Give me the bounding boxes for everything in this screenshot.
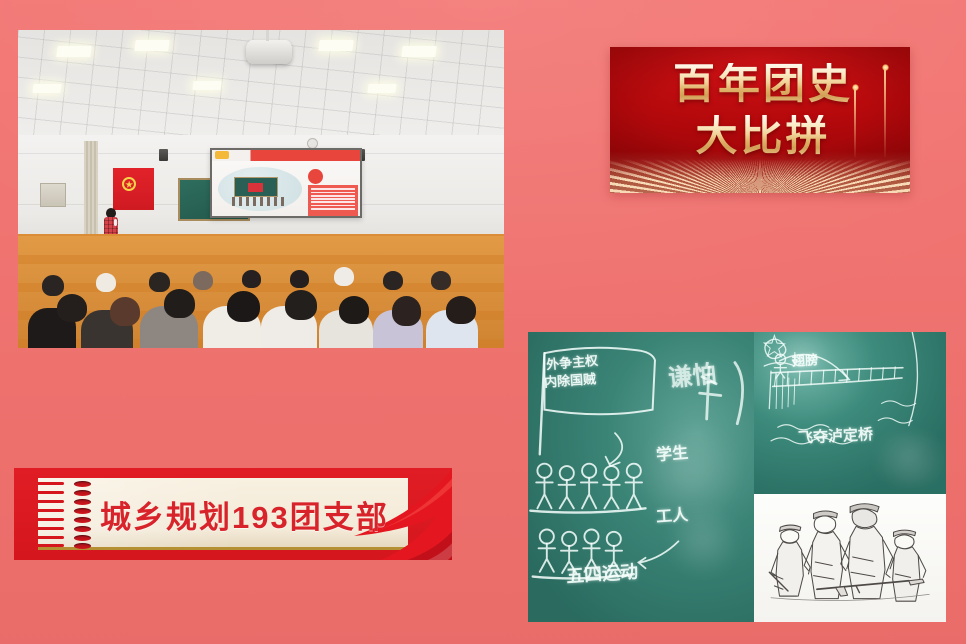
- window-curtain: [84, 141, 98, 236]
- audience-member: [392, 296, 421, 326]
- lecture-hall-scene: [18, 30, 504, 348]
- title-line-1: 百年团史: [610, 63, 910, 105]
- lecture-hall-photo: [18, 30, 504, 348]
- collage-panel-luding-bridge: 翅膀 飞夺泸定桥: [754, 332, 946, 494]
- ceiling-light: [367, 84, 396, 93]
- audience-member: [149, 272, 170, 292]
- audience-member: [446, 296, 476, 324]
- audience-member: [285, 290, 317, 320]
- chalk-label-workers: 工人: [655, 501, 689, 527]
- collage-panel-may-fourth: 外争主权 内除国贼 谦怕 学生 工人 五四运动: [528, 332, 754, 622]
- youth-league-flag: [113, 168, 154, 210]
- audience-member: [57, 294, 87, 322]
- chalk-drawing-bridge: [754, 332, 946, 470]
- audience-member: [339, 296, 369, 324]
- audience-member: [431, 271, 451, 290]
- slide-canvas: 百年团史 大比拼 城乡规划1: [0, 0, 966, 644]
- audience-member: [227, 291, 260, 322]
- title-card: 百年团史 大比拼: [610, 47, 910, 193]
- slide-text-block: [308, 185, 358, 216]
- audience-member: [96, 273, 116, 292]
- collage-panel-soldier-sketch: [754, 494, 946, 622]
- audience-member: [193, 271, 213, 290]
- title-line-2: 大比拼: [610, 115, 910, 157]
- chalk-label-students: 学生: [655, 439, 689, 466]
- ceiling-light: [401, 46, 437, 57]
- audience-member: [334, 267, 354, 286]
- ceiling-light: [192, 81, 221, 90]
- ceiling-projector-icon: [246, 40, 292, 64]
- chalk-label-may-fourth-movement: 五四运动: [565, 558, 639, 589]
- slide-illustration-seats: [232, 197, 288, 206]
- audience-member: [164, 289, 195, 318]
- chalk-label-wings: 翅膀: [791, 349, 818, 370]
- chalk-label-luding-bridge: 飞夺泸定桥: [797, 423, 873, 448]
- audience-member: [242, 270, 261, 288]
- branch-name-banner: 城乡规划193团支部: [14, 468, 452, 560]
- pencil-sketch-soldiers: [754, 494, 946, 603]
- slide-illustration-flag: [248, 183, 263, 192]
- wall-speaker-icon: [159, 149, 168, 161]
- audience-member: [383, 271, 403, 290]
- projection-screen: [210, 148, 362, 218]
- microphone-icon: [114, 219, 117, 226]
- chalk-label-right-char: 谦怕: [666, 354, 717, 394]
- audience-member: [110, 297, 140, 326]
- ceiling-light: [32, 84, 61, 93]
- slide-header: [212, 150, 360, 161]
- ceiling-light: [134, 40, 170, 51]
- audience-seating: [18, 234, 504, 348]
- banner-title: 城乡规划193团支部: [100, 478, 400, 550]
- ceiling-light: [56, 46, 92, 57]
- slide-badge: [215, 151, 229, 159]
- wall-panel: [40, 183, 66, 207]
- spiral-binding-icon: [38, 478, 100, 550]
- slide-body: [212, 161, 360, 216]
- ceiling-light: [319, 40, 355, 51]
- audience-member: [42, 275, 64, 296]
- history-collage: 翅膀 飞夺泸定桥: [528, 332, 946, 622]
- slide-red-circle: [308, 169, 323, 184]
- audience-member: [290, 270, 309, 288]
- chalk-label-traitors: 内除国贼: [543, 368, 596, 391]
